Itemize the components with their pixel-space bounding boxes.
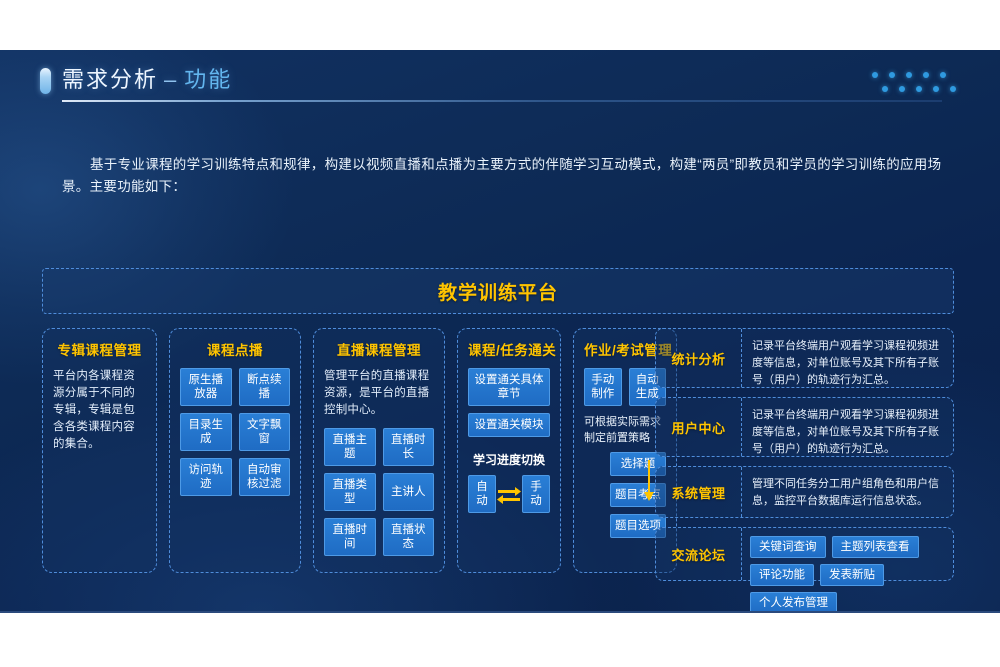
forum-tag-button[interactable]: 个人发布管理	[750, 592, 837, 613]
platform-banner: 教学训练平台	[42, 268, 954, 314]
feature-button-stack: 设置通关具体章节 设置通关模块	[468, 368, 550, 437]
page-title: 需求分析–功能	[62, 62, 232, 94]
feature-button[interactable]: 访问轨迹	[180, 458, 232, 496]
feature-button-grid: 原生播放器 断点续播 目录生成 文字飘窗 访问轨迹 自动审核过滤	[180, 368, 290, 496]
dot-matrix-decoration	[872, 72, 956, 96]
card-user-center: 用户中心 记录平台终端用户观看学习课程视频进度等信息，对单位账号及其下所有子账号…	[655, 397, 954, 457]
column-album-course-management: 专辑课程管理 平台内各课程资源分属于不同的专辑，专辑是包含各类课程内容的集合。	[42, 328, 157, 573]
page-title-main: 需求分析	[62, 67, 158, 92]
card-statistical-analysis: 统计分析 记录平台终端用户观看学习课程视频进度等信息，对单位账号及其下所有子账号…	[655, 328, 954, 388]
forum-tag-button[interactable]: 评论功能	[750, 564, 814, 586]
card-description: 记录平台终端用户观看学习课程视频进度等信息，对单位账号及其下所有子账号（用户）的…	[742, 329, 953, 387]
feature-button[interactable]: 直播类型	[324, 473, 376, 511]
card-communication-forum: 交流论坛 关键词查询 主题列表查看 评论功能 发表新贴 个人发布管理	[655, 527, 954, 581]
feature-button[interactable]: 设置通关具体章节	[468, 368, 550, 406]
column-title: 作业/考试管理	[584, 339, 666, 359]
switch-manual-button[interactable]: 手动	[522, 475, 550, 513]
feature-button[interactable]: 原生播放器	[180, 368, 232, 406]
column-course-task-clearance: 课程/任务通关 设置通关具体章节 设置通关模块 学习进度切换 自动 手动	[457, 328, 561, 573]
right-feature-panel: 统计分析 记录平台终端用户观看学习课程视频进度等信息，对单位账号及其下所有子账号…	[655, 328, 954, 590]
feature-button[interactable]: 自动审核过滤	[239, 458, 291, 496]
card-title: 系统管理	[656, 467, 742, 517]
column-title: 课程点播	[180, 339, 290, 359]
forum-tag-button[interactable]: 发表新贴	[820, 564, 884, 586]
forum-tag-button[interactable]: 关键词查询	[750, 536, 826, 558]
dot-row-bottom	[882, 86, 956, 96]
swap-arrows-icon	[496, 483, 522, 505]
card-title: 统计分析	[656, 329, 742, 387]
header-divider	[62, 100, 942, 102]
dot-row-top	[872, 72, 956, 82]
switch-auto-button[interactable]: 自动	[468, 475, 496, 513]
exam-flow-area: 可根据实际需求制定前置策略 选择题 题目考点 题目选项	[584, 414, 666, 538]
card-system-management: 系统管理 管理不同任务分工用户组角色和用户信息，监控平台数据库运行信息状态。	[655, 466, 954, 518]
feature-button-grid: 手动制作 自动生成	[584, 368, 666, 406]
feature-button[interactable]: 直播时间	[324, 518, 376, 556]
feature-button[interactable]: 设置通关模块	[468, 413, 550, 437]
column-live-course-management: 直播课程管理 管理平台的直播课程资源，是平台的直播控制中心。 直播主题 直播时长…	[313, 328, 445, 573]
column-title: 专辑课程管理	[53, 339, 146, 359]
feature-button[interactable]: 文字飘窗	[239, 413, 291, 451]
slide-header: 需求分析–功能	[0, 50, 1000, 110]
feature-button[interactable]: 目录生成	[180, 413, 232, 451]
page-title-sub: 功能	[184, 67, 232, 92]
feature-button[interactable]: 直播状态	[383, 518, 435, 556]
column-description: 管理平台的直播课程资源，是平台的直播控制中心。	[324, 368, 434, 419]
progress-switch-label: 学习进度切换	[468, 451, 550, 468]
column-title: 直播课程管理	[324, 339, 434, 359]
slide-canvas: 需求分析–功能 基于专业课程的学习训练特点和规律，构建以视频直播和点播为主要方式…	[0, 50, 1000, 613]
pill-bullet-icon	[40, 68, 51, 94]
title-dash: –	[164, 67, 178, 92]
progress-switch-row: 自动 手动	[468, 475, 550, 513]
platform-banner-title: 教学训练平台	[438, 278, 558, 305]
column-course-on-demand: 课程点播 原生播放器 断点续播 目录生成 文字飘窗 访问轨迹 自动审核过滤	[169, 328, 301, 573]
feature-button[interactable]: 手动制作	[584, 368, 622, 406]
intro-paragraph: 基于专业课程的学习训练特点和规律，构建以视频直播和点播为主要方式的伴随学习互动模…	[62, 154, 952, 198]
card-title: 交流论坛	[656, 528, 742, 580]
feature-button-grid: 直播主题 直播时长 直播类型 主讲人 直播时间 直播状态	[324, 428, 434, 556]
forum-tag-list: 关键词查询 主题列表查看 评论功能 发表新贴 个人发布管理	[742, 528, 953, 580]
feature-button[interactable]: 直播主题	[324, 428, 376, 466]
feature-button[interactable]: 直播时长	[383, 428, 435, 466]
card-title: 用户中心	[656, 398, 742, 456]
column-description: 平台内各课程资源分属于不同的专辑，专辑是包含各类课程内容的集合。	[53, 368, 146, 453]
feature-button[interactable]: 主讲人	[383, 473, 435, 511]
column-title: 课程/任务通关	[468, 339, 550, 359]
exam-note: 可根据实际需求制定前置策略	[584, 414, 666, 446]
card-description: 记录平台终端用户观看学习课程视频进度等信息，对单位账号及其下所有子账号（用户）的…	[742, 398, 953, 456]
feature-button[interactable]: 断点续播	[239, 368, 291, 406]
forum-tag-button[interactable]: 主题列表查看	[832, 536, 919, 558]
card-description: 管理不同任务分工用户组角色和用户信息，监控平台数据库运行信息状态。	[742, 467, 953, 517]
